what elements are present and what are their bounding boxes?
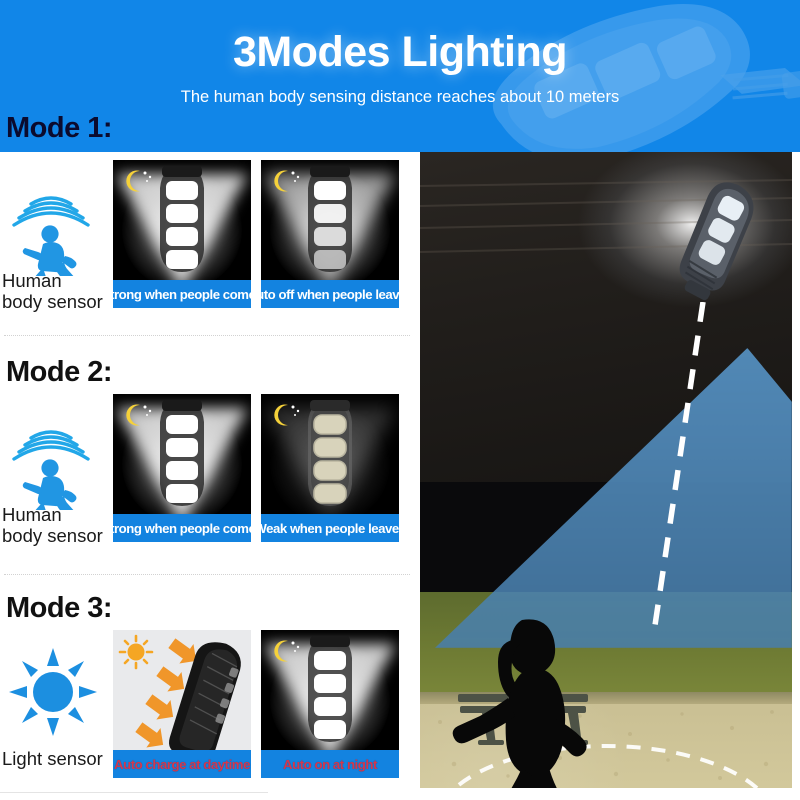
mode-1-panel-2[interactable]: Auto off when people leaves xyxy=(261,160,399,308)
human-body-sensor-icon xyxy=(3,164,99,276)
led-lamp-icon xyxy=(299,164,361,276)
led-lamp-icon xyxy=(299,634,361,746)
modes-column: Mode 1: Human body sensor xyxy=(0,152,418,800)
street-lamp-icon xyxy=(658,178,786,306)
sun-icon xyxy=(120,636,152,668)
mode-2-sensor-label: Human body sensor xyxy=(2,504,108,547)
mode-3-panel-2[interactable]: Auto on at night xyxy=(261,630,399,778)
moon-icon xyxy=(122,168,156,194)
light-sensor-sun-icon xyxy=(5,644,101,740)
moon-icon xyxy=(270,168,304,194)
led-lamp-icon xyxy=(151,164,213,276)
page-title: 3Modes Lighting xyxy=(0,28,800,77)
mode-2-panel-1[interactable]: Strong when people comes xyxy=(113,394,251,542)
mode-1-panel-2-caption: Auto off when people leaves xyxy=(261,280,399,308)
mode-2-panel-1-caption: Strong when people comes xyxy=(113,514,251,542)
moon-icon xyxy=(122,402,156,428)
mode-3-panel-1[interactable]: Auto charge at daytime xyxy=(113,630,251,778)
human-body-sensor-icon xyxy=(3,398,99,510)
mode-2-panel-2[interactable]: Weak when people leaves xyxy=(261,394,399,542)
header-subtitle: The human body sensing distance reaches … xyxy=(0,88,800,107)
mode-1-title: Mode 1: xyxy=(6,112,112,145)
running-person-silhouette-icon xyxy=(452,614,612,788)
moon-icon xyxy=(270,402,304,428)
moon-icon xyxy=(270,638,304,664)
mode-2-title: Mode 2: xyxy=(6,356,112,389)
mode-3-panel-1-caption: Auto charge at daytime xyxy=(113,750,251,778)
infographic-page: 3Modes Lighting The human body sensing d… xyxy=(0,0,800,800)
mode-3-panel-2-caption: Auto on at night xyxy=(261,750,399,778)
led-lamp-icon xyxy=(299,398,361,510)
solar-lamp-icon xyxy=(162,635,251,765)
section-divider-1 xyxy=(4,335,410,336)
mode-3-title: Mode 3: xyxy=(6,592,112,625)
mode-2-panel-2-caption: Weak when people leaves xyxy=(261,514,399,542)
header-banner: 3Modes Lighting The human body sensing d… xyxy=(0,0,800,152)
mode-1-panel-1-caption: Strong when people comes xyxy=(113,280,251,308)
section-divider-2 xyxy=(4,574,410,575)
radar-demo-photo: 10m radar sensor xyxy=(420,152,792,788)
footer-divider xyxy=(0,792,268,793)
mode-1-sensor-label: Human body sensor xyxy=(2,270,108,313)
mode-1-panel-1[interactable]: Strong when people comes xyxy=(113,160,251,308)
led-lamp-icon xyxy=(151,398,213,510)
